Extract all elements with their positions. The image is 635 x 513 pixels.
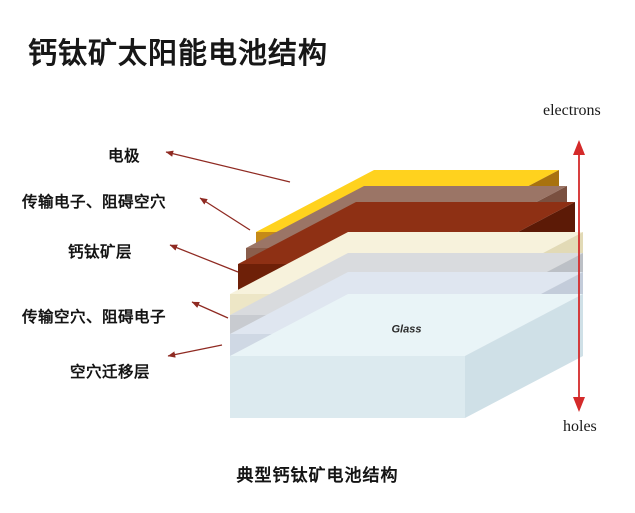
annotation-arrow-1 (200, 198, 250, 230)
arrow-head-up (573, 140, 585, 155)
layer-stack: AuPCBM60CH3NH3PbI3polyTPDPEDOT:PSSITOGla… (230, 170, 583, 418)
annotation-arrow-4 (168, 345, 222, 356)
annotation-arrow-0 (166, 152, 290, 182)
annotation-arrow-2 (170, 245, 238, 272)
layer-front-face (230, 356, 465, 418)
layer-label: Glass (391, 323, 421, 335)
annotation-arrow-3 (192, 302, 228, 318)
solar-cell-stack-graphic: AuPCBM60CH3NH3PbI3polyTPDPEDOT:PSSITOGla… (0, 0, 635, 513)
diagram-canvas: 钙钛矿太阳能电池结构 electrons holes 电极 传输电子、阻碍空穴 … (0, 0, 635, 513)
arrow-head-down (573, 397, 585, 412)
